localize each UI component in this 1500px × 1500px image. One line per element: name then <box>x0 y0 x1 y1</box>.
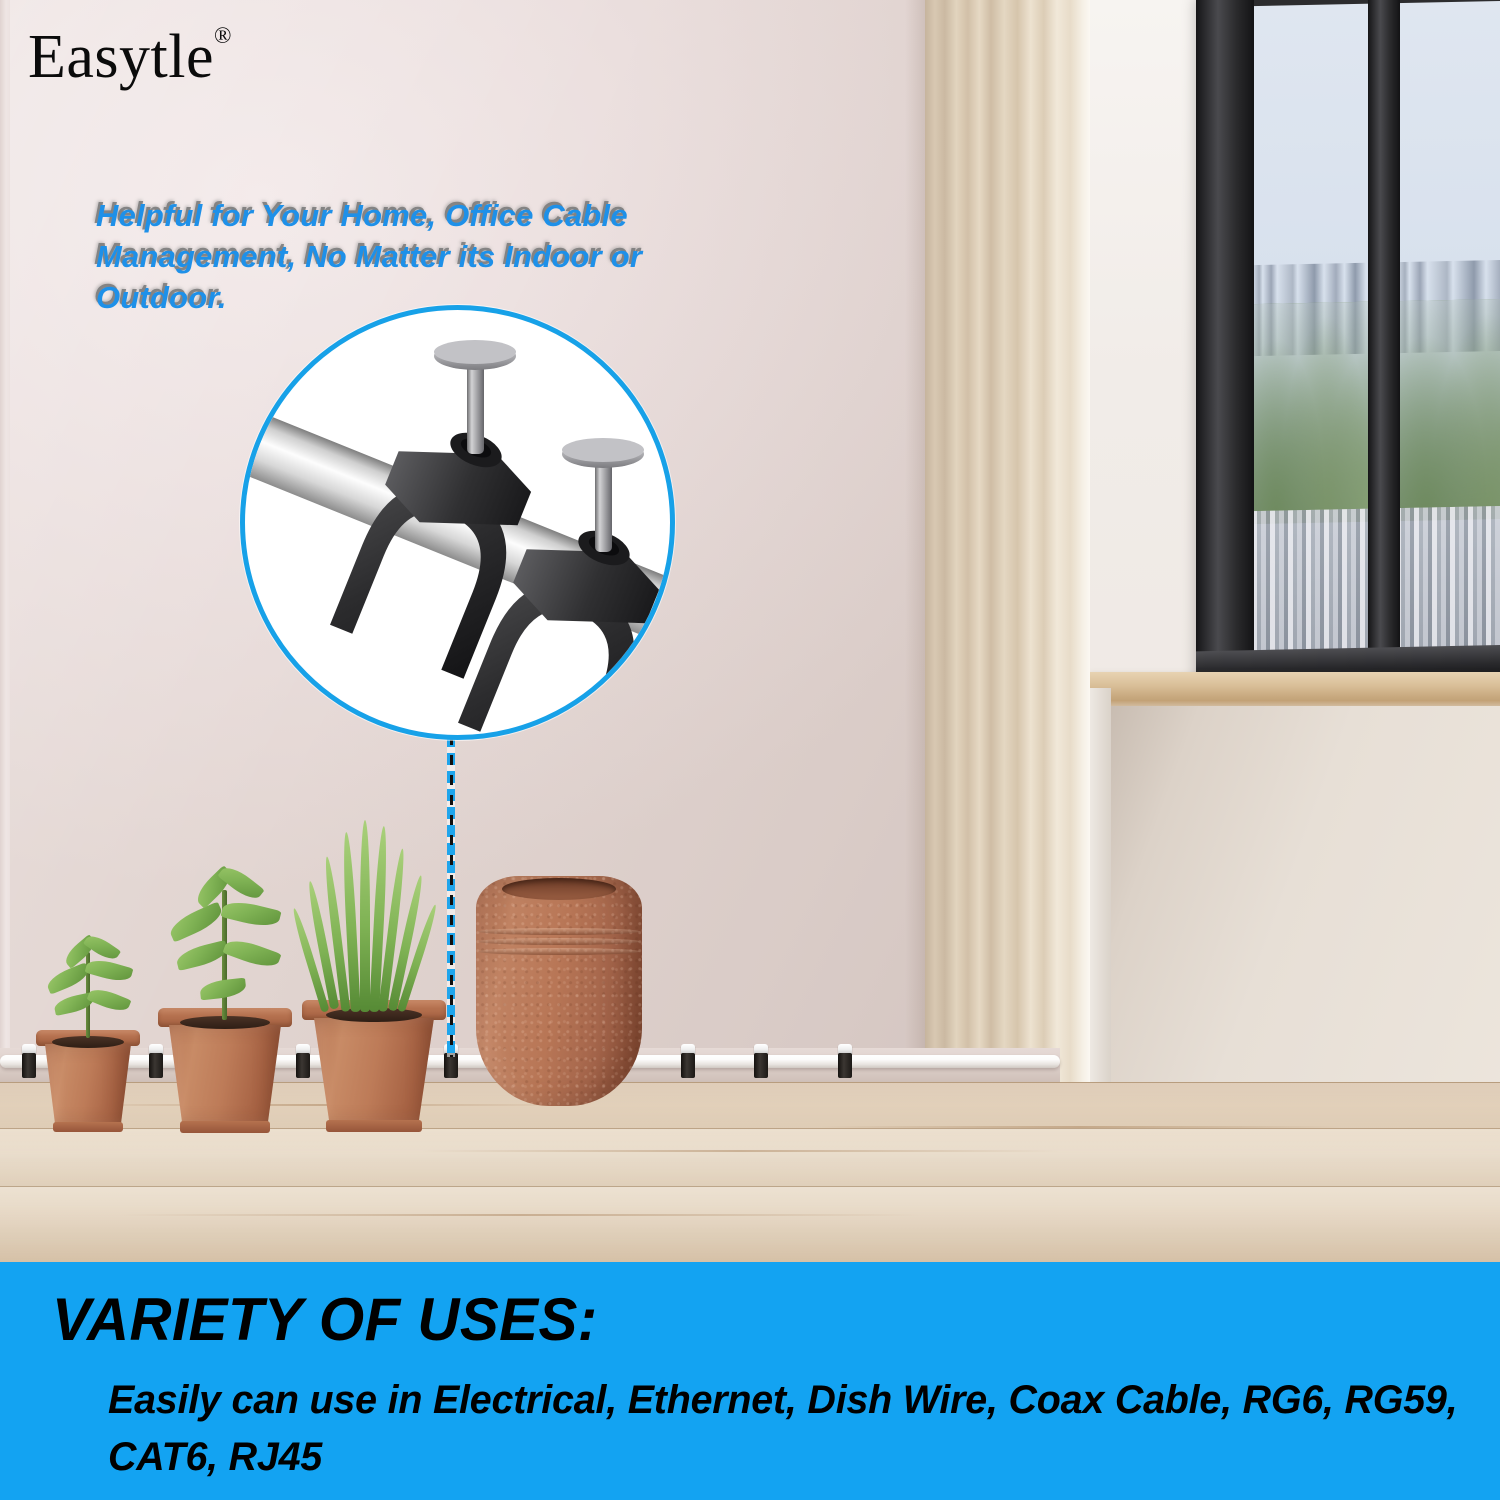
pot-body <box>169 1025 281 1125</box>
cable-clip-illustration <box>245 310 675 740</box>
urn-ring <box>478 928 640 935</box>
grass-blade <box>360 820 370 1012</box>
brand-name: Easytle <box>28 23 214 91</box>
trademark-symbol: ® <box>214 23 232 48</box>
medium-plant-pot <box>158 1008 292 1136</box>
cable-clip <box>754 1044 768 1078</box>
cable-clip <box>681 1044 695 1078</box>
cable-clip <box>838 1044 852 1078</box>
cable-clip <box>22 1044 36 1078</box>
window-glass-right <box>1396 0 1500 651</box>
large-terracotta-urn <box>476 876 642 1106</box>
clip-body <box>22 1053 36 1078</box>
floor-grain <box>120 1214 920 1216</box>
brand-logo: Easytle® <box>28 26 232 88</box>
product-marketing-image: Easytle® Helpful for Your Home, Office C… <box>0 0 1500 1500</box>
clip-body <box>754 1053 768 1078</box>
pot-base <box>326 1120 422 1132</box>
green-hills <box>1252 302 1372 525</box>
floor-plank <box>0 1186 1500 1262</box>
pot-base <box>53 1122 123 1132</box>
city-buildings <box>1252 509 1372 654</box>
urn-texture <box>476 876 642 1106</box>
window <box>1196 0 1500 691</box>
headline-text: Helpful for Your Home, Office Cable Mana… <box>96 196 756 319</box>
floor-grain <box>420 1150 1060 1152</box>
grass-plant-pot <box>302 1000 446 1136</box>
pot-body <box>45 1044 131 1126</box>
wall-left-edge <box>0 0 10 1090</box>
banner-subtitle: Easily can use in Electrical, Ethernet, … <box>108 1372 1467 1486</box>
window-frame-left <box>1196 0 1254 679</box>
urn-mouth <box>502 878 616 900</box>
urn-ring <box>478 948 640 955</box>
urn-ring <box>478 938 640 945</box>
window-glass-left <box>1252 4 1372 655</box>
clip-body <box>838 1053 852 1078</box>
room-scene <box>0 0 1500 1262</box>
window-mullion-center <box>1368 0 1400 676</box>
bottom-banner: VARIETY OF USES: Easily can use in Elect… <box>0 1262 1500 1500</box>
floor-grain <box>820 1126 1340 1128</box>
green-hills <box>1396 298 1500 521</box>
pot-body <box>314 1018 434 1124</box>
city-buildings <box>1396 505 1500 651</box>
pot-base <box>180 1121 270 1133</box>
banner-title: VARIETY OF USES: <box>52 1288 598 1351</box>
floor-plank <box>0 1128 1500 1187</box>
cable-clip-closeup-circle <box>240 305 675 740</box>
pointer-dashed-core <box>450 735 453 1057</box>
curtain <box>925 0 1090 1180</box>
small-plant-pot <box>36 1030 140 1134</box>
clip-body <box>681 1053 695 1078</box>
